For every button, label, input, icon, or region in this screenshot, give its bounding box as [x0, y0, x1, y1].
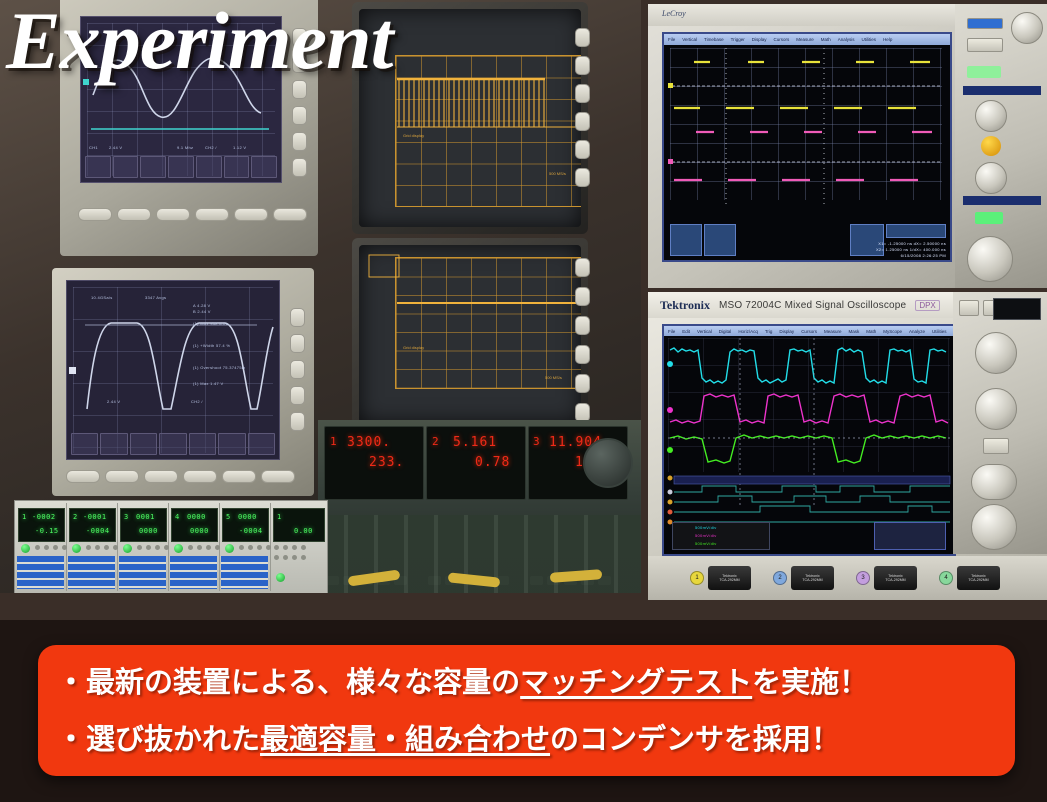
controller-button[interactable] [274, 545, 279, 550]
hp-bottom-cursor-a: A 4.28 V [193, 303, 211, 308]
callout-line-1-post: を実施！ [752, 659, 868, 701]
module-3-channel: 3 [124, 513, 129, 521]
softkey-slot[interactable] [196, 156, 222, 178]
amber-crt-bottom: Grid display 500 MS/s [352, 238, 588, 430]
probe-connector-2[interactable]: 2 Tektronix TCA-292MM [773, 566, 834, 590]
hp-bottom-softkeys[interactable] [66, 470, 295, 483]
softkey[interactable] [117, 208, 151, 221]
slide-canvas: CH1 2.44 V 9.1 Mhz CH2 / 1.12 V [0, 0, 1047, 802]
module-5-channel: 5 [226, 513, 231, 521]
softkey[interactable] [273, 208, 307, 221]
lecroy-brand: LeCroy [662, 9, 686, 18]
module-button[interactable] [95, 545, 100, 550]
dpx-badge: DPX [915, 300, 939, 311]
source-meter-rack: 1 -0002 -0.15 2 -0001 -0004 [14, 500, 328, 593]
bullet-1: ・ [56, 659, 86, 701]
sidekey[interactable] [575, 345, 590, 364]
crt-bottom-sweep: 500 MS/s [545, 375, 562, 380]
sidekey[interactable] [292, 158, 307, 177]
module-2-display: 2 -0001 -0004 [69, 508, 116, 542]
module-4-output-led[interactable] [174, 544, 183, 553]
hp-bottom-timebase: 10.4GSa/s [91, 295, 113, 300]
module-3-terminal-strip [119, 556, 166, 589]
psu-unit-2: 2 5.161 0.78 [426, 426, 526, 500]
sidekey[interactable] [290, 412, 305, 431]
module-button[interactable] [53, 545, 58, 550]
lecroy-oscilloscope-photo: LeCroy File Vertical Timebase Trigger Di… [648, 4, 1047, 288]
callout-line-2-pre: 選び抜かれた [86, 716, 260, 758]
lecroy-timestamp: 6/15/2008 2:26:25 PM [901, 253, 946, 258]
module-3-value-bottom: 0000 [139, 527, 158, 535]
sidekey[interactable] [575, 316, 590, 335]
tek-knob-multipurpose-b[interactable] [971, 504, 1017, 550]
sidekey[interactable] [292, 132, 307, 151]
callout-line-1: ・ 最新の装置による、様々な容量の マッチングテスト を実施！ [56, 659, 868, 701]
softkey-slot[interactable] [218, 433, 245, 455]
module-1-value-bottom: -0.15 [35, 527, 59, 535]
tek-knob-horizontal-scale[interactable] [975, 388, 1017, 430]
source-meter-controller: 1 0.00 [270, 503, 327, 591]
softkey-slot[interactable] [130, 433, 157, 455]
psu-3-channel: 3 [533, 435, 541, 448]
callout-line-2-post: のコンデンサを採用！ [550, 716, 840, 758]
lecroy-run-lamp [975, 212, 1003, 224]
module-1-channel: 1 [22, 513, 27, 521]
callout-line-2: ・ 選び抜かれた 最適容量・組み合わせ のコンデンサを採用！ [56, 716, 840, 758]
source-meter-module-1: 1 -0002 -0.15 [15, 503, 67, 591]
softkey[interactable] [144, 470, 178, 483]
softkey[interactable] [234, 208, 268, 221]
module-button[interactable] [188, 545, 193, 550]
module-4-buttons[interactable] [188, 545, 220, 550]
module-button[interactable] [104, 545, 109, 550]
tek-knob-multipurpose-a[interactable] [971, 464, 1017, 500]
lecroy-timebase-descriptor [886, 224, 946, 238]
ch1-scale: 500mV/div [695, 525, 717, 530]
crt-face: Grid display 500 MS/s [359, 245, 581, 423]
sidekey[interactable] [290, 360, 305, 379]
softkey-slot[interactable] [159, 433, 186, 455]
module-button[interactable] [155, 545, 160, 550]
module-button[interactable] [248, 545, 253, 550]
source-meter-module-4: 4 0000 0000 [168, 503, 220, 591]
lecroy-ch1-descriptor [670, 224, 702, 256]
tektronix-front-panel [953, 292, 1047, 554]
hp-top-readout-v2: 1.12 V [233, 145, 246, 150]
sidekey[interactable] [575, 374, 590, 393]
ch3-scale: 500mV/div [695, 541, 717, 546]
controller-button[interactable] [301, 555, 306, 560]
controller-button[interactable] [292, 555, 297, 560]
softkey[interactable] [222, 470, 256, 483]
module-button[interactable] [35, 545, 40, 550]
callout-line-1-underlined: マッチングテスト [520, 659, 752, 701]
probe-connector-3[interactable]: 3 Tektronix TCA-292MM [856, 566, 917, 590]
tektronix-channel-readouts: 500mV/div 500mV/div 500mV/div [672, 522, 770, 550]
sidekey[interactable] [292, 106, 307, 125]
lecroy-status-lamp-green [967, 66, 1001, 78]
module-button[interactable] [137, 545, 142, 550]
sidekey[interactable] [575, 258, 590, 277]
softkey-slot[interactable] [248, 433, 275, 455]
hp-top-readout-v: 2.44 V [109, 145, 122, 150]
sidekey[interactable] [290, 334, 305, 353]
controller-button[interactable] [292, 545, 297, 550]
psu-2-channel: 2 [432, 435, 440, 448]
module-1-value-top: -0002 [32, 513, 56, 521]
hp-bottom-readout-v: 2.44 V [107, 399, 120, 404]
lab-bench-photo: CH1 2.44 V 9.1 Mhz CH2 / 1.12 V [0, 0, 641, 593]
lecroy-front-panel [955, 4, 1047, 288]
crt-top-label: Grid display [403, 133, 424, 138]
softkey[interactable] [261, 470, 295, 483]
softkey[interactable] [195, 208, 229, 221]
dc-power-supply-rack: 1 3300. 233. 2 5.161 0.78 3 11.904 1.79 [318, 420, 641, 593]
module-5-display: 5 0000 -0004 [222, 508, 269, 542]
module-5-buttons[interactable] [239, 545, 271, 550]
module-4-terminal-strip [170, 556, 217, 589]
module-5-output-led[interactable] [225, 544, 234, 553]
crt-bottom-sidekeys[interactable] [575, 258, 590, 422]
crt-top-sweep: 500 MS/s [549, 171, 566, 176]
controller-output-led[interactable] [276, 573, 285, 582]
probe-1-number: 1 [690, 571, 704, 585]
hp-bottom-meas-1: (1) Max 948 mVs [193, 321, 228, 326]
module-1-buttons[interactable] [35, 545, 67, 550]
lecroy-cursor-line-2: X2= 1.25000 ns 1/dX= 400.000 ns [876, 247, 946, 252]
hp-bottom-meas-4: (1) Max 1.47 V [193, 381, 223, 386]
controller-value: 0.00 [294, 527, 313, 535]
probe-4-model: TCA-292MM [968, 578, 988, 582]
tektronix-probe-row: 1 Tektronix TCA-292MM 2 Tektronix TCA-29… [648, 556, 1047, 600]
callout-line-1-pre: 最新の装置による、様々な容量の [86, 659, 520, 701]
hp-top-softkey-menu[interactable] [85, 156, 277, 178]
softkey-slot[interactable] [140, 156, 166, 178]
module-2-value-top: -0001 [83, 513, 107, 521]
probe-2-body: Tektronix TCA-292MM [791, 566, 834, 590]
module-2-terminal-strip [68, 556, 115, 589]
hp-top-readout-ch2: CH2 / [205, 145, 217, 150]
tektronix-brand: Tektronix [660, 298, 710, 313]
softkey-slot[interactable] [85, 156, 111, 178]
softkey-slot[interactable] [168, 156, 194, 178]
probe-connector-4[interactable]: 4 Tektronix TCA-292MM [939, 566, 1000, 590]
hp-bottom-cursor-b: B 2.44 V [193, 309, 211, 314]
waveform-flat-trace [359, 245, 581, 423]
psu-unit-1: 1 3300. 233. [324, 426, 424, 500]
hp-top-readout-ch: CH1 [89, 145, 98, 150]
module-1-terminal-strip [17, 556, 64, 589]
hp-top-readout-time: 9.1 Mhz [177, 145, 193, 150]
module-3-output-led[interactable] [123, 544, 132, 553]
tektronix-analog-waveforms [664, 326, 954, 554]
source-meter-module-3: 3 0001 0000 [117, 503, 169, 591]
hp-bottom-readout-ch2: CH2 / [191, 399, 203, 404]
lecroy-ch2-descriptor [704, 224, 736, 256]
controller-display: 1 0.00 [273, 508, 325, 542]
module-button[interactable] [239, 545, 244, 550]
softkey[interactable] [66, 470, 100, 483]
probe-3-body: Tektronix TCA-292MM [874, 566, 917, 590]
sidekey[interactable] [575, 28, 590, 47]
tek-knob-vertical-scale[interactable] [975, 332, 1017, 374]
sidekey[interactable] [575, 287, 590, 306]
sidekey[interactable] [575, 112, 590, 131]
psu-2-value-bottom: 0.78 [475, 455, 510, 470]
tek-digital-readout [993, 298, 1041, 320]
softkey[interactable] [156, 208, 190, 221]
module-5-value-bottom: -0004 [239, 527, 263, 535]
module-4-display: 4 0000 0000 [171, 508, 218, 542]
module-button[interactable] [86, 545, 91, 550]
lecroy-section-label-vertical [963, 86, 1041, 95]
source-meter-module-5: 5 0000 -0004 [219, 503, 271, 591]
softkey-slot[interactable] [100, 433, 127, 455]
softkey-slot[interactable] [189, 433, 216, 455]
module-2-buttons[interactable] [86, 545, 118, 550]
psu-1-channel: 1 [330, 435, 338, 448]
hp-scope-bottom-screen: 10.4GSa/s 3347 Avgs A 4.28 V B 2.44 V (1… [66, 280, 280, 460]
ch2-scale: 500mV/div [695, 533, 717, 538]
sidekey[interactable] [575, 84, 590, 103]
softkey-slot[interactable] [71, 433, 98, 455]
hp-bottom-meas-2: (1) +Width 57.4 % [193, 343, 230, 348]
sidekey[interactable] [290, 386, 305, 405]
tektronix-screen: File Edit Vertical Digital Horiz/Acq Tri… [662, 324, 956, 556]
crt-top-sidekeys[interactable] [575, 28, 590, 187]
tektronix-oscilloscope-photo: Tektronix MSO 72004C Mixed Signal Oscill… [648, 292, 1047, 600]
module-button[interactable] [197, 545, 202, 550]
module-button[interactable] [44, 545, 49, 550]
psu-1-value-top: 3300. [347, 435, 391, 450]
module-1-output-led[interactable] [21, 544, 30, 553]
lecroy-knob-horizontal[interactable] [975, 162, 1007, 194]
lecroy-blue-button[interactable] [967, 18, 1003, 29]
hp-oscilloscope-bottom: 10.4GSa/s 3347 Avgs A 4.28 V B 2.44 V (1… [52, 268, 314, 496]
module-2-channel: 2 [73, 513, 78, 521]
hp-bottom-sidekeys[interactable] [290, 308, 305, 431]
psu-rotary-knob[interactable] [583, 438, 633, 488]
controller-button[interactable] [283, 545, 288, 550]
module-4-value-top: 0000 [187, 513, 206, 521]
module-2-value-bottom: -0004 [86, 527, 110, 535]
controller-button[interactable] [283, 555, 288, 560]
probe-connector-1[interactable]: 1 Tektronix TCA-292MM [690, 566, 751, 590]
controller-buttons-row1[interactable] [274, 545, 306, 550]
tektronix-model: MSO 72004C Mixed Signal Oscilloscope [719, 300, 906, 311]
lecroy-cursor-line-1: X1= -1.25000 ns dX= 2.50000 ns [878, 241, 946, 246]
sidekey[interactable] [575, 140, 590, 159]
module-3-display: 3 0001 0000 [120, 508, 167, 542]
probe-4-number: 4 [939, 571, 953, 585]
controller-button[interactable] [274, 555, 279, 560]
source-meter-module-2: 2 -0001 -0004 [66, 503, 118, 591]
callout-line-2-underlined: 最適容量・組み合わせ [260, 716, 550, 758]
sidekey[interactable] [290, 308, 305, 327]
lecroy-knob-vertical[interactable] [975, 100, 1007, 132]
module-button[interactable] [146, 545, 151, 550]
softkey-slot[interactable] [224, 156, 250, 178]
module-2-output-led[interactable] [72, 544, 81, 553]
sidekey[interactable] [575, 168, 590, 187]
softkey-slot[interactable] [113, 156, 139, 178]
bullet-2: ・ [56, 716, 86, 758]
psu-2-value-top: 5.161 [453, 435, 497, 450]
module-button[interactable] [257, 545, 262, 550]
module-3-buttons[interactable] [137, 545, 169, 550]
hp-bottom-meas-3: (1) Overshoot 75.37475m [193, 365, 245, 370]
controller-button[interactable] [301, 545, 306, 550]
lecroy-screen: File Vertical Timebase Trigger Display C… [662, 32, 952, 262]
controller-channel: 1 [277, 513, 282, 521]
lecroy-button[interactable] [967, 38, 1003, 52]
hp-bottom-mode: 3347 Avgs [145, 295, 166, 300]
page-title: Experiment [6, 0, 392, 88]
module-5-value-top: 0000 [238, 513, 257, 521]
module-5-terminal-strip [221, 556, 268, 589]
hp-top-softkeys[interactable] [78, 208, 307, 221]
module-4-channel: 4 [175, 513, 180, 521]
tek-button-single[interactable] [983, 438, 1009, 454]
probe-2-number: 2 [773, 571, 787, 585]
sidekey[interactable] [575, 56, 590, 75]
probe-2-model: TCA-292MM [802, 578, 822, 582]
hp-bottom-softkey-menu[interactable] [71, 433, 275, 455]
lecroy-knob-top[interactable] [1011, 12, 1043, 44]
module-button[interactable] [206, 545, 211, 550]
probe-1-body: Tektronix TCA-292MM [708, 566, 751, 590]
probe-4-body: Tektronix TCA-292MM [957, 566, 1000, 590]
photo-collage: CH1 2.44 V 9.1 Mhz CH2 / 1.12 V [0, 0, 1047, 620]
tektronix-acquisition-readout [874, 522, 946, 550]
lecroy-knob-multipurpose[interactable] [967, 236, 1013, 282]
lecroy-amber-lamp [981, 136, 1001, 156]
softkey[interactable] [78, 208, 112, 221]
tek-button-autoset[interactable] [959, 300, 979, 316]
softkey-slot[interactable] [251, 156, 277, 178]
module-4-value-bottom: 0000 [190, 527, 209, 535]
softkey[interactable] [183, 470, 217, 483]
probe-3-number: 3 [856, 571, 870, 585]
module-3-value-top: 0001 [136, 513, 155, 521]
module-1-display: 1 -0002 -0.15 [18, 508, 65, 542]
probe-1-model: TCA-292MM [719, 578, 739, 582]
lecroy-section-label-adjust [963, 196, 1041, 205]
probe-3-model: TCA-292MM [885, 578, 905, 582]
crt-bottom-label: Grid display [403, 345, 424, 350]
psu-1-value-bottom: 233. [369, 455, 404, 470]
controller-buttons-row2[interactable] [274, 555, 306, 560]
callout-box: ・ 最新の装置による、様々な容量の マッチングテスト を実施！ ・ 選び抜かれた… [38, 645, 1015, 776]
softkey[interactable] [105, 470, 139, 483]
